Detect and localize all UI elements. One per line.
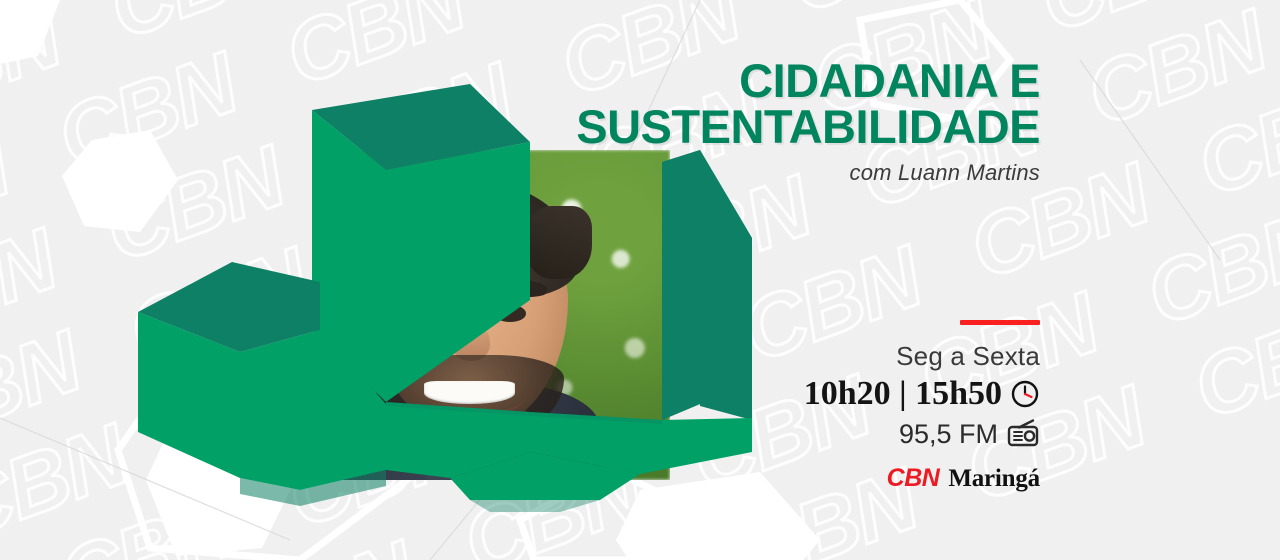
frequency-value: 95,5 FM xyxy=(899,417,998,452)
host-credit: com Luann Martins xyxy=(220,160,1040,186)
radio-icon xyxy=(1006,419,1040,449)
red-accent-divider xyxy=(960,320,1040,325)
broadcast-days: Seg a Sexta xyxy=(620,340,1040,373)
program-title-block: CIDADANIA E SUSTENTABILIDADE com Luann M… xyxy=(220,58,1040,186)
radio-program-banner: CBN CBN CBN CBN CBN CBN CBN CBN CBN CBN … xyxy=(0,0,1280,560)
schedule-block: Seg a Sexta 10h20 | 15h50 95,5 FM xyxy=(620,320,1040,493)
broadcast-times-row: 10h20 | 15h50 xyxy=(620,373,1040,415)
broadcast-times: 10h20 | 15h50 xyxy=(804,373,1002,415)
station-logo: CBN Maringá xyxy=(620,464,1040,493)
clock-icon xyxy=(1010,379,1040,409)
cbn-wordmark: CBN xyxy=(887,464,940,493)
title-line-2: SUSTENTABILIDADE xyxy=(220,104,1040,150)
frequency-row: 95,5 FM xyxy=(620,417,1040,452)
station-city: Maringá xyxy=(948,465,1040,493)
bottom-wedge-shade xyxy=(470,500,600,512)
title-line-1: CIDADANIA E xyxy=(220,58,1040,104)
